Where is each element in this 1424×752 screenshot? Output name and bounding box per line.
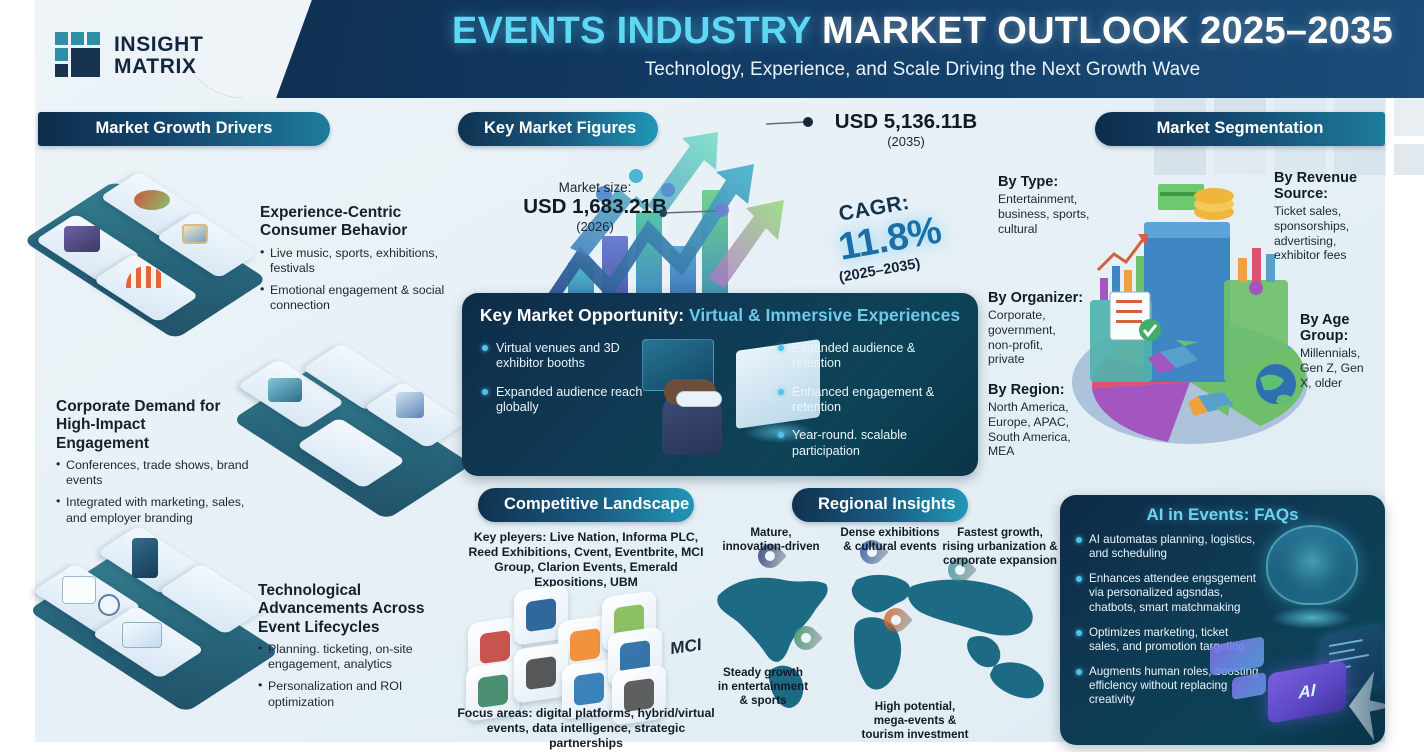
segment-by-type-value: Entertainment,business, sports,cultural — [998, 192, 1108, 236]
laptop-shape — [122, 622, 162, 648]
segment-by-organizer: By Organizer:Corporate,government,non-pr… — [988, 290, 1094, 367]
hologram-base-shape — [1272, 607, 1352, 629]
segment-by-revenue-source: By RevenueSource:Ticket sales,sponsorshi… — [1274, 170, 1384, 263]
concert-screen-shape — [64, 226, 100, 252]
driver-2: Corporate Demand forHigh-ImpactEngagemen… — [56, 398, 266, 532]
opportunity-title-prefix: Key Market Opportunity: — [480, 305, 689, 325]
grid-logo-icon — [55, 32, 103, 79]
pill-market-growth-drivers[interactable]: Market Growth Drivers — [38, 112, 330, 146]
calendar-page-shape — [62, 576, 96, 604]
focus-areas-text: Focus areas: digital platforms, hybrid/v… — [450, 706, 722, 751]
infographic-root: EVENTS INDUSTRY MARKET OUTLOOK 2025–2035… — [0, 0, 1424, 752]
artwork-frame-shape — [182, 224, 208, 244]
header-text-block: EVENTS INDUSTRY MARKET OUTLOOK 2025–2035… — [425, 10, 1420, 81]
ai-illustration: AI — [1244, 521, 1379, 736]
driver-3: TechnologicalAdvancements AcrossEvent Li… — [258, 582, 458, 716]
regional-note-mea: High potential,mega-events &tourism inve… — [850, 700, 980, 742]
segment-by-type-label: By Type: — [998, 174, 1108, 190]
list-item: Personalization and ROI optimization — [258, 679, 458, 710]
opportunity-bullets-right: Expanded audience & retentionEnhanced en… — [776, 341, 966, 472]
pill-market-segmentation[interactable]: Market Segmentation — [1095, 112, 1385, 146]
segment-by-age-group: By AgeGroup:Millennials,Gen Z, GenX, old… — [1300, 312, 1390, 390]
map-pin-5[interactable] — [884, 608, 910, 642]
segment-by-organizer-label: By Organizer: — [988, 290, 1094, 306]
segment-by-revenue-source-label: By RevenueSource: — [1274, 170, 1384, 202]
driver-2-title: Corporate Demand forHigh-ImpactEngagemen… — [56, 398, 266, 453]
connector-line-right — [760, 108, 840, 138]
driver-2-illustration — [246, 352, 458, 512]
list-item: Planning. ticketing, on-site engagement,… — [258, 642, 458, 673]
segment-by-region: By Region:North America,Europe, APAC,Sou… — [988, 382, 1098, 459]
list-item: Live music, sports, exhibitions, festiva… — [260, 246, 456, 277]
brain-icon — [1266, 525, 1358, 605]
opportunity-bullets-left: Virtual venues and 3D exhibitor boothsEx… — [480, 341, 670, 428]
segment-by-region-label: By Region: — [988, 382, 1098, 398]
brand-line-1: INSIGHT — [114, 34, 203, 55]
segment-by-age-group-value: Millennials,Gen Z, GenX, older — [1300, 346, 1390, 390]
booth-wall-shape — [396, 392, 424, 418]
list-item: Expanded audience & retention — [776, 341, 966, 372]
opportunity-title: Key Market Opportunity: Virtual & Immers… — [462, 305, 978, 326]
regional-note-north-america: Mature,innovation-driven — [706, 526, 836, 554]
regional-note-europe: Dense exhibitions& cultural events — [830, 526, 950, 554]
map-pin-4[interactable] — [794, 626, 820, 660]
list-item: Virtual venues and 3D exhibitor booths — [480, 341, 670, 372]
brand-name: INSIGHT MATRIX — [114, 34, 203, 77]
list-item: Conferences, trade shows, brand events — [56, 458, 266, 489]
brand-logo[interactable]: INSIGHT MATRIX — [55, 32, 203, 79]
tablet-shape — [132, 538, 158, 578]
page-subtitle: Technology, Experience, and Scale Drivin… — [425, 59, 1420, 81]
list-item: Enhanced engagement & retention — [776, 385, 966, 416]
segment-by-organizer-value: Corporate,government,non-profit,private — [988, 308, 1094, 367]
stadium-field-shape — [134, 190, 170, 210]
chat-bubble-small-icon — [1232, 672, 1266, 700]
segment-by-region-value: North America,Europe, APAC,South America… — [988, 400, 1098, 459]
segment-by-type: By Type:Entertainment,business, sports,c… — [998, 174, 1108, 236]
driver-1-title: Experience-CentricConsumer Behavior — [260, 204, 456, 241]
driver-2-bullets: Conferences, trade shows, brand eventsIn… — [56, 458, 266, 527]
competitor-logo-cluster: MCI — [462, 572, 712, 692]
list-item: Emotional engagement & social connection — [260, 283, 456, 314]
driver-3-illustration — [46, 522, 262, 702]
title-rest: MARKET OUTLOOK 2025–2035 — [822, 10, 1393, 52]
pill-regional-insights[interactable]: Regional Insights — [792, 488, 968, 522]
booth-monitor-shape — [268, 378, 302, 402]
driver-3-title: TechnologicalAdvancements AcrossEvent Li… — [258, 582, 458, 637]
list-item: Enhances attendee engsgement via persona… — [1074, 572, 1259, 614]
column-market-growth-drivers: Market Growth Drivers Experience-Centric… — [38, 112, 458, 742]
mci-logo-icon[interactable] — [514, 642, 568, 704]
market-size-label: Market size: — [495, 180, 695, 195]
ai-chip-icon: AI — [1268, 660, 1346, 724]
opportunity-title-accent: Virtual & Immersive Experiences — [689, 305, 960, 325]
segment-by-revenue-source-value: Ticket sales,sponsorships,advertising,ex… — [1274, 204, 1384, 263]
connector-line-left — [660, 196, 780, 226]
page-title: EVENTS INDUSTRY MARKET OUTLOOK 2025–2035 — [425, 10, 1420, 54]
location-pin-icon — [879, 603, 913, 637]
segment-by-age-group-label: By AgeGroup: — [1300, 312, 1390, 344]
driver-3-bullets: Planning. ticketing, on-site engagement,… — [258, 642, 458, 711]
pill-competitive-landscape[interactable]: Competitive Landscape — [478, 488, 694, 522]
list-item: Expanded audience reach globally — [480, 385, 670, 416]
clock-shape — [98, 594, 120, 616]
location-pin-icon — [789, 621, 823, 655]
driver-1-bullets: Live music, sports, exhibitions, festiva… — [260, 246, 456, 315]
driver-1-illustration — [42, 164, 252, 339]
key-market-opportunity-panel: Key Market Opportunity: Virtual & Immers… — [462, 293, 978, 476]
title-highlight: EVENTS INDUSTRY — [452, 10, 822, 52]
cagr-callout: CAGR: 11.8% (2025–2035) — [838, 190, 988, 273]
driver-1: Experience-CentricConsumer Behavior Live… — [260, 204, 456, 320]
brand-line-2: MATRIX — [114, 56, 203, 77]
list-item: Year-round. scalable participation — [776, 428, 966, 459]
header-banner: EVENTS INDUSTRY MARKET OUTLOOK 2025–2035… — [180, 0, 1424, 98]
regional-note-south-america: Steady growthin entertainment& sports — [704, 666, 822, 708]
list-item: AI automatas planning, logistics, and sc… — [1074, 533, 1259, 561]
ai-faq-panel: AI in Events: FAQs AI automatas planning… — [1060, 495, 1385, 745]
